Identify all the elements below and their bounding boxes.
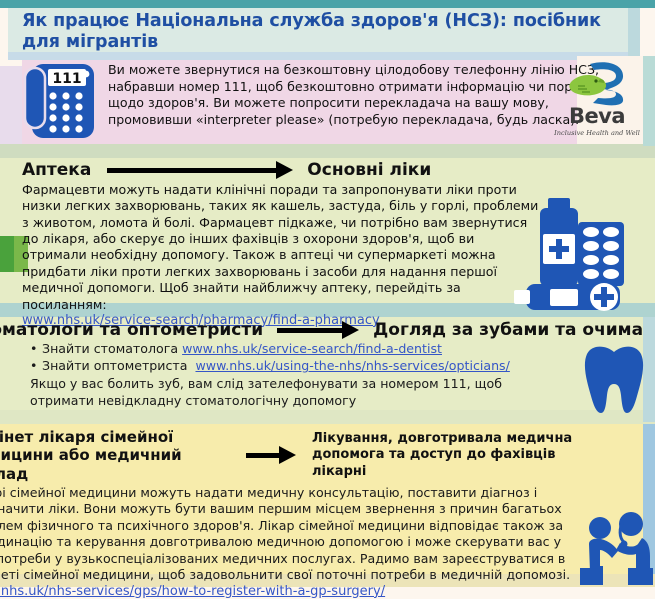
- telephone-icon: 111: [22, 58, 100, 146]
- dentist-links-list: Знайти стоматолога www.nhs.uk/service-se…: [30, 340, 655, 374]
- arrow-right-icon: [246, 450, 296, 460]
- page-header: Як працює Національна служба здоров'я (Н…: [22, 8, 622, 56]
- gp-title-left: Кабінет лікаря сімейної медицини або мед…: [0, 428, 234, 483]
- list-item: Знайти оптометриста www.nhs.uk/using-the…: [30, 357, 655, 374]
- section-gp: Кабінет лікаря сімейної медицини або мед…: [0, 428, 655, 599]
- svg-text:111: 111: [52, 71, 81, 87]
- gp-body: Лікарі сімейної медицини можуть надати м…: [0, 483, 586, 584]
- gp-title-right: Лікування, довготривала медична допомога…: [312, 431, 578, 480]
- list-item: Знайти стоматолога www.nhs.uk/service-se…: [30, 340, 655, 357]
- gp-link[interactable]: www.nhs.uk/nhs-services/gps/how-to-regis…: [0, 584, 385, 599]
- dentist-band-bottom: [0, 410, 655, 424]
- pharmacy-header: Аптека Основні ліки: [22, 160, 655, 180]
- pharmacy-body: Фармацевти можуть надати клінічні поради…: [22, 182, 542, 313]
- header-band-edge: [628, 8, 640, 56]
- pharmacy-title-right: Основні ліки: [307, 160, 431, 180]
- dentist-title-left: Стоматологи та оптометристи: [0, 320, 263, 340]
- arrow-right-icon: [107, 165, 293, 175]
- bird-icon: [566, 60, 628, 106]
- pharmacy-title-left: Аптека: [22, 160, 91, 180]
- dentist-header: Стоматологи та оптометристи Догляд за зу…: [0, 320, 655, 340]
- dentist-title-right: Догляд за зубами та очима: [373, 320, 643, 340]
- dentist-bullet-label-1: Знайти оптометриста: [42, 358, 187, 373]
- top-teal-bar: [0, 0, 655, 8]
- helpline-panel: 111 Ви можете звернутися на безкоштовну …: [22, 58, 632, 146]
- arrow-right-icon: [277, 325, 359, 335]
- helpline-text: Ви можете звернутися на безкоштовну ціло…: [100, 58, 632, 146]
- infographic-canvas: Як працює Національна служба здоров'я (Н…: [0, 0, 655, 587]
- dentist-link-find-dentist[interactable]: www.nhs.uk/service-search/find-a-dentist: [182, 341, 442, 356]
- doctor-patient-icon: [578, 508, 655, 587]
- page-title: Як працює Національна служба здоров'я (Н…: [22, 11, 622, 54]
- beva-logo: Beva Inclusive Health and Well: [554, 60, 640, 148]
- dentist-bullet-label-0: Знайти стоматолога: [42, 341, 178, 356]
- dentist-link-opticians[interactable]: www.nhs.uk/using-the-nhs/nhs-services/op…: [195, 358, 509, 373]
- tooth-icon: [582, 342, 646, 416]
- logo-tagline: Inclusive Health and Well: [554, 129, 640, 137]
- right-accent-teal: [643, 56, 655, 146]
- medicine-bottle-icon: [512, 198, 655, 316]
- dentist-note: Якщо у вас болить зуб, вам слід зателефо…: [30, 374, 560, 409]
- logo-wordmark: Beva: [569, 104, 625, 128]
- left-accent-dark: [0, 236, 14, 272]
- section-dentist: Стоматологи та оптометристи Догляд за зу…: [0, 320, 655, 409]
- gp-header: Кабінет лікаря сімейної медицини або мед…: [0, 428, 655, 483]
